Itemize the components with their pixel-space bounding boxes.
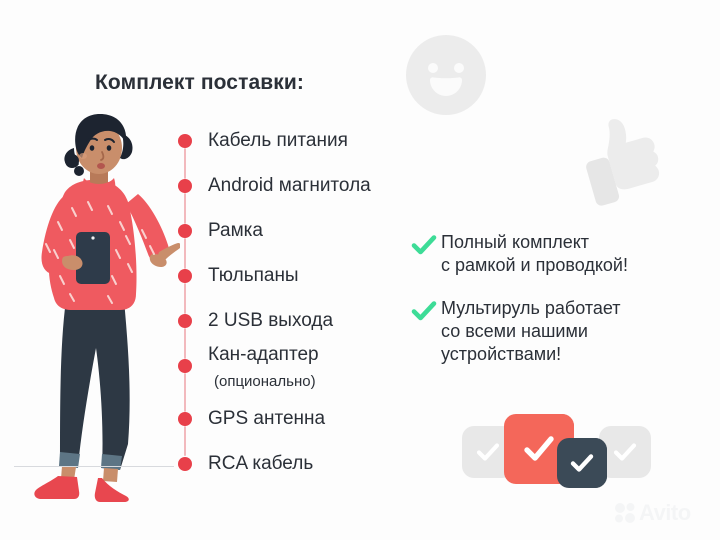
bullet-icon xyxy=(178,314,192,328)
bullet-icon xyxy=(178,359,192,373)
feature-text: Полный комплект с рамкой и проводкой! xyxy=(441,231,628,277)
check-icon xyxy=(473,437,503,467)
feature-item: Полный комплект с рамкой и проводкой! xyxy=(411,231,628,277)
list-item-label: Android магнитола xyxy=(208,175,371,197)
list-item-label: Кан-адаптер xyxy=(208,344,319,366)
thumbs-up-icon xyxy=(576,112,672,212)
check-icon xyxy=(411,298,437,324)
list-item-sublabel: (опционально) xyxy=(214,373,316,390)
smiley-face-icon xyxy=(404,33,488,117)
list-item-label: Кабель питания xyxy=(208,130,348,152)
list-item-label: Рамка xyxy=(208,220,263,242)
feature-item: Мультируль работает со всеми нашими устр… xyxy=(411,297,621,366)
check-icon xyxy=(567,448,597,478)
list-item-label: RCA кабель xyxy=(208,453,313,475)
list-item-label: GPS антенна xyxy=(208,408,325,430)
bullet-icon xyxy=(178,269,192,283)
kit-contents-list: Кабель питания Android магнитола Рамка Т… xyxy=(178,128,428,458)
checkbox-card-dark xyxy=(557,438,607,488)
ground-line xyxy=(14,466,174,467)
bullet-icon xyxy=(178,134,192,148)
feature-text: Мультируль работает со всеми нашими устр… xyxy=(441,297,621,366)
checkbox-cards-decoration xyxy=(462,412,652,492)
list-item-label: 2 USB выхода xyxy=(208,310,333,332)
avito-watermark: Avito xyxy=(614,500,691,526)
list-item-label: Тюльпаны xyxy=(208,265,299,287)
woman-pointing-illustration xyxy=(16,104,180,504)
avito-wordmark: Avito xyxy=(639,500,691,526)
promo-image: Комплект поставки: Кабель питания Androi… xyxy=(0,0,720,540)
avito-logo-icon xyxy=(614,502,636,524)
check-icon xyxy=(411,232,437,258)
bullet-icon xyxy=(178,179,192,193)
check-icon xyxy=(519,429,559,469)
bullet-icon xyxy=(178,412,192,426)
bullet-icon xyxy=(178,224,192,238)
check-icon xyxy=(610,437,640,467)
bullet-icon xyxy=(178,457,192,471)
page-title: Комплект поставки: xyxy=(95,71,304,95)
